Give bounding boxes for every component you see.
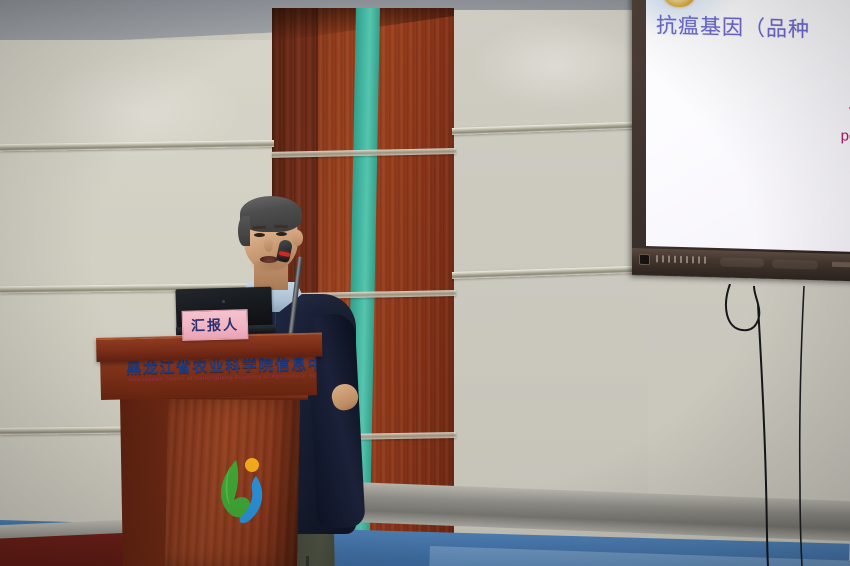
display-screen[interactable]: 抗瘟基因（品种 You pengy No [646,0,850,252]
slide-byline: You pengy No [766,99,850,174]
speaker-role-sign: 汇报人 [182,309,249,341]
trouser-seam [306,556,309,566]
slide-title: 抗瘟基因（品种 [656,14,850,44]
presenter-nose [264,238,273,252]
laptop-logo-dot [222,300,225,303]
presenter-ear [292,230,303,246]
presenter-eyebrow-right [274,225,288,228]
power-button-icon[interactable] [639,254,650,265]
wall-panel-middle [452,10,652,566]
presenter-eye-left [254,233,265,237]
display-port [832,262,850,268]
display-speaker-grille [720,257,764,267]
speaker-role-sign-label: 汇报人 [191,314,240,335]
wall-mounted-display[interactable]: 抗瘟基因（品种 You pengy No [632,0,850,290]
slide-byline-line-3: No [766,146,850,175]
display-speaker-grille [772,259,818,269]
presenter-hair-side [238,216,250,246]
agricultural-sciences-logo [206,452,276,528]
presenter-eye-right [276,232,287,236]
display-control-keys[interactable] [656,255,710,264]
presentation-room-photo: 抗瘟基因（品种 You pengy No [0,0,850,566]
